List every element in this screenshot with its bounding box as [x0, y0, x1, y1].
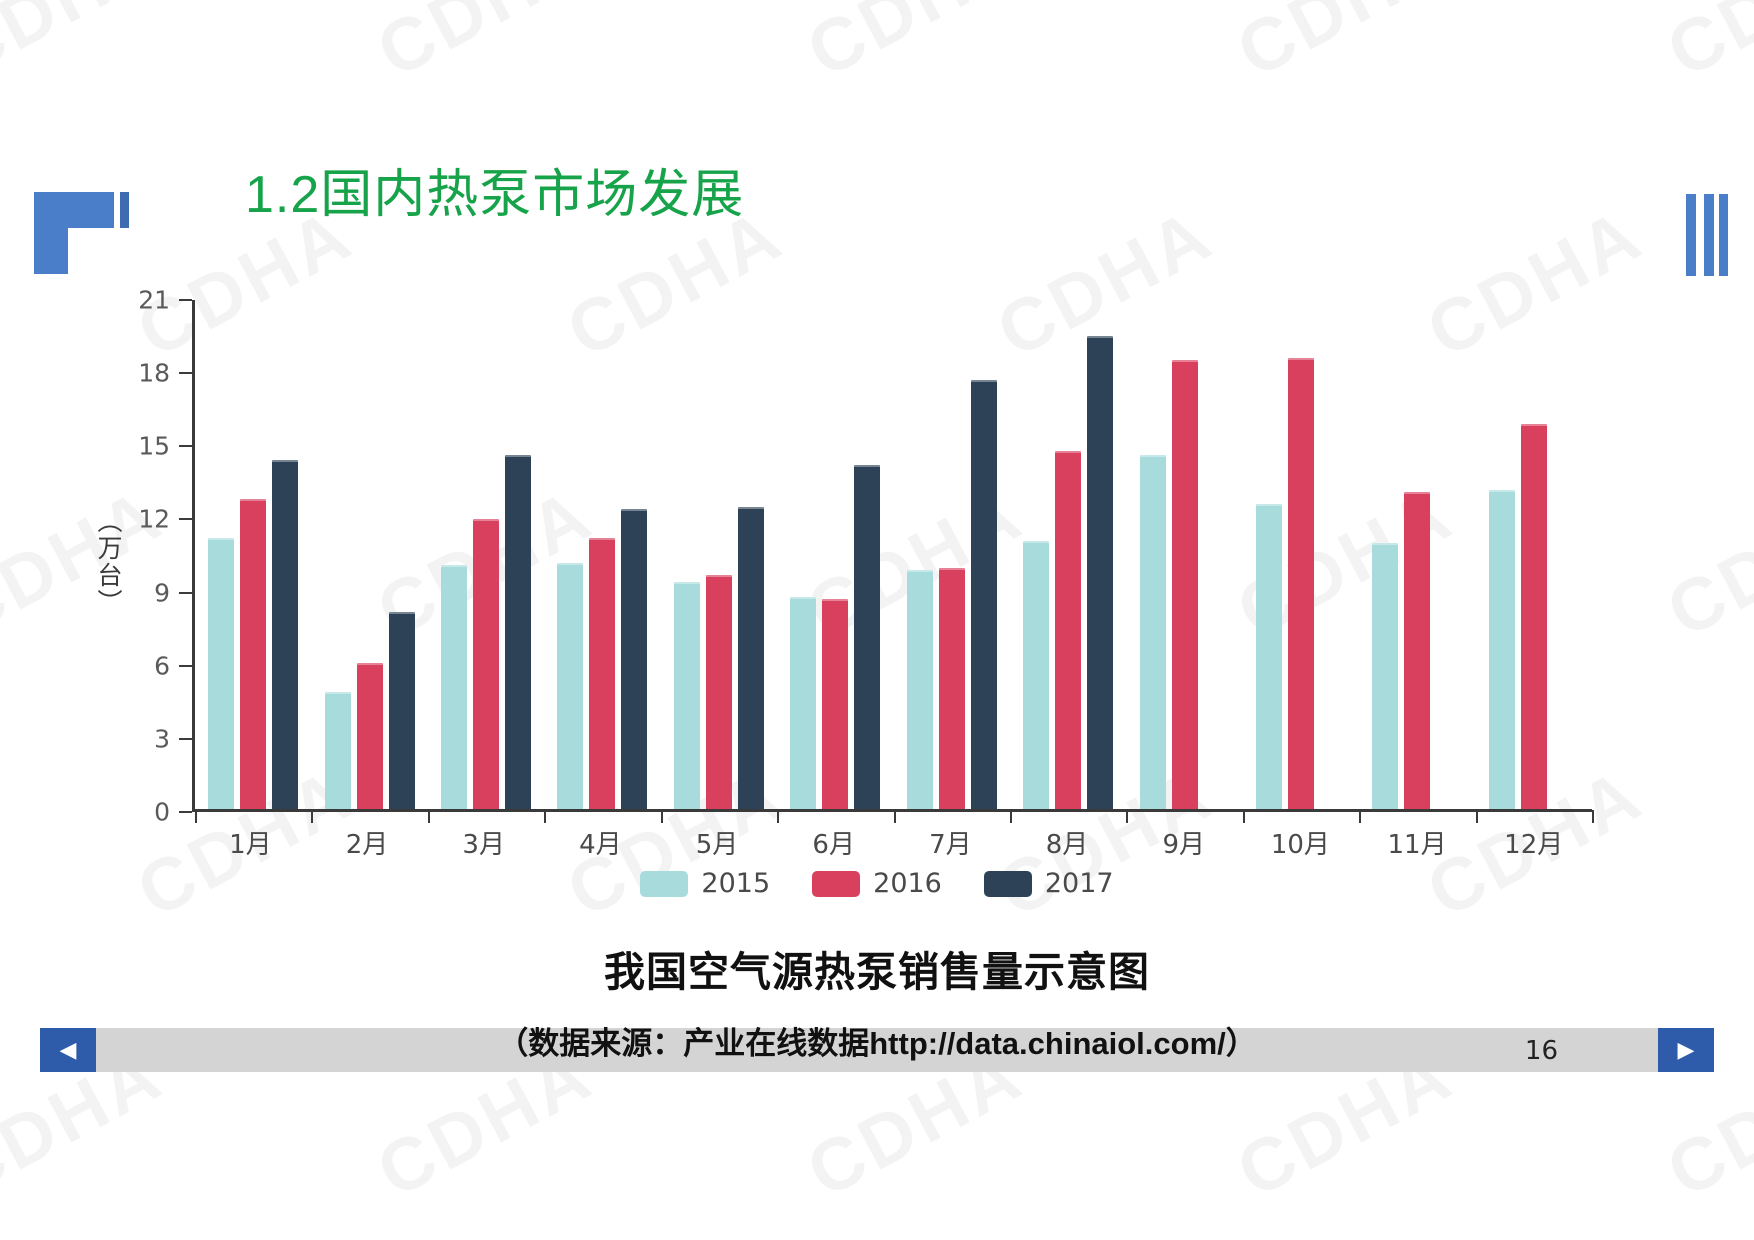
bar-2017-6月[interactable] — [854, 465, 880, 809]
x-tick-label: 11月 — [1359, 824, 1476, 861]
x-tick-mark — [661, 810, 663, 823]
bar-2016-2月[interactable] — [357, 663, 383, 809]
bar-group — [894, 300, 1010, 809]
y-tick-label: 6 — [120, 651, 170, 680]
bar-groups — [195, 300, 1592, 809]
bar-2017-3月[interactable] — [505, 455, 531, 809]
y-tick-mark — [179, 445, 192, 447]
x-tick-mark — [777, 810, 779, 823]
bar-group — [1126, 300, 1242, 809]
bar-2016-1月[interactable] — [240, 499, 266, 809]
watermark-text: CDHA — [363, 0, 606, 94]
bar-group — [1010, 300, 1126, 809]
bar-2016-8月[interactable] — [1055, 451, 1081, 809]
bar-2015-6月[interactable] — [790, 597, 816, 809]
plot-area — [192, 300, 1592, 812]
y-axis-ticks: 036912151821 — [126, 300, 192, 812]
bar-2015-10月[interactable] — [1256, 504, 1282, 809]
x-tick-mark — [1476, 810, 1478, 823]
bar-group — [311, 300, 427, 809]
y-tick-mark — [179, 299, 192, 301]
legend-item-2015[interactable]: 2015 — [640, 868, 770, 899]
y-tick-label: 9 — [120, 578, 170, 607]
bar-group — [1359, 300, 1475, 809]
bar-2015-8月[interactable] — [1023, 541, 1049, 809]
x-tick-label: 3月 — [425, 824, 542, 861]
decoration-bars-right — [1686, 194, 1728, 276]
y-tick-mark — [179, 372, 192, 374]
legend-swatch-2017 — [984, 871, 1032, 897]
legend-label-2015: 2015 — [701, 868, 770, 899]
x-axis-labels: 1月2月3月4月5月6月7月8月9月10月11月12月 — [192, 824, 1592, 861]
x-tick-mark — [1126, 810, 1128, 823]
y-tick-label: 15 — [120, 432, 170, 461]
source-url-link[interactable]: http://data.chinaiol.com/ — [869, 1026, 1226, 1061]
x-tick-label: 10月 — [1242, 824, 1359, 861]
bar-2015-9月[interactable] — [1140, 455, 1166, 809]
x-tick-label: 5月 — [659, 824, 776, 861]
x-tick-label: 6月 — [775, 824, 892, 861]
x-tick-label: 2月 — [309, 824, 426, 861]
bar-group — [661, 300, 777, 809]
bar-2016-4月[interactable] — [589, 538, 615, 809]
x-tick-mark — [544, 810, 546, 823]
slide-canvas: CDHACDHACDHACDHACDHACDHACDHACDHACDHACDHA… — [0, 0, 1754, 1240]
legend-item-2016[interactable]: 2016 — [812, 868, 942, 899]
bar-2017-5月[interactable] — [738, 507, 764, 809]
y-tick-label: 12 — [120, 505, 170, 534]
watermark-text: CDHA — [1653, 471, 1754, 654]
bar-2015-7月[interactable] — [907, 570, 933, 809]
bar-2017-2月[interactable] — [389, 612, 415, 809]
x-tick-label: 4月 — [542, 824, 659, 861]
bar-2017-4月[interactable] — [621, 509, 647, 809]
bar-group — [1476, 300, 1592, 809]
bar-2016-10月[interactable] — [1288, 358, 1314, 809]
watermark-text: CDHA — [1223, 0, 1466, 94]
source-suffix: ） — [1226, 1026, 1257, 1061]
bar-2015-1月[interactable] — [208, 538, 234, 809]
bar-2017-8月[interactable] — [1087, 336, 1113, 809]
y-tick-mark — [179, 811, 192, 813]
y-tick-mark — [179, 738, 192, 740]
legend-label-2017: 2017 — [1045, 868, 1114, 899]
chart-legend: 201520162017 — [0, 868, 1754, 899]
watermark-text: CDHA — [0, 0, 176, 94]
bar-2016-3月[interactable] — [473, 519, 499, 809]
bar-2015-12月[interactable] — [1489, 490, 1515, 809]
bar-group — [195, 300, 311, 809]
watermark-text: CDHA — [1653, 0, 1754, 94]
bar-chart: （万台） 036912151821 1月2月3月4月5月6月7月8月9月10月1… — [92, 300, 1662, 860]
bar-2016-6月[interactable] — [822, 599, 848, 809]
bar-2017-7月[interactable] — [971, 380, 997, 809]
x-tick-mark — [195, 810, 197, 823]
x-axis-tickmarks — [195, 809, 1592, 823]
y-tick-mark — [179, 518, 192, 520]
x-tick-mark — [428, 810, 430, 823]
x-tick-label: 1月 — [192, 824, 309, 861]
watermark-text: CDHA — [793, 0, 1036, 94]
page-number: 16 — [1525, 1036, 1558, 1066]
bar-2015-4月[interactable] — [557, 563, 583, 809]
y-tick-label: 21 — [120, 286, 170, 315]
bar-2015-5月[interactable] — [674, 582, 700, 809]
bar-group — [428, 300, 544, 809]
bar-2016-7月[interactable] — [939, 568, 965, 809]
bar-2016-12月[interactable] — [1521, 424, 1547, 809]
x-tick-mark — [894, 810, 896, 823]
slide-title: 1.2国内热泵市场发展 — [245, 152, 744, 227]
x-tick-label: 7月 — [892, 824, 1009, 861]
bar-2017-1月[interactable] — [272, 460, 298, 809]
bar-group — [777, 300, 893, 809]
bar-2016-5月[interactable] — [706, 575, 732, 809]
x-tick-label: 12月 — [1475, 824, 1592, 861]
x-tick-mark — [1010, 810, 1012, 823]
x-tick-label: 8月 — [1009, 824, 1126, 861]
previous-slide-button[interactable]: ◀ — [40, 1028, 96, 1072]
x-tick-mark — [1592, 810, 1594, 823]
legend-swatch-2015 — [640, 871, 688, 897]
x-tick-mark — [1359, 810, 1361, 823]
bar-group — [1243, 300, 1359, 809]
x-tick-label: 9月 — [1125, 824, 1242, 861]
bar-2015-2月[interactable] — [325, 692, 351, 809]
bar-2015-3月[interactable] — [441, 565, 467, 809]
legend-swatch-2016 — [812, 871, 860, 897]
y-tick-label: 0 — [120, 798, 170, 827]
decoration-corner-left — [34, 192, 114, 274]
next-slide-button[interactable]: ▶ — [1658, 1028, 1714, 1072]
y-tick-label: 18 — [120, 359, 170, 388]
x-tick-mark — [1243, 810, 1245, 823]
y-tick-label: 3 — [120, 724, 170, 753]
x-tick-mark — [311, 810, 313, 823]
source-prefix: （数据来源：产业在线数据 — [497, 1026, 869, 1061]
y-tick-mark — [179, 665, 192, 667]
chart-caption: 我国空气源热泵销售量示意图 — [0, 938, 1754, 998]
bar-2016-9月[interactable] — [1172, 360, 1198, 809]
legend-label-2016: 2016 — [873, 868, 942, 899]
legend-item-2017[interactable]: 2017 — [984, 868, 1114, 899]
data-source-note: （数据来源：产业在线数据http://data.chinaiol.com/） — [0, 1018, 1754, 1063]
bar-2016-11月[interactable] — [1404, 492, 1430, 809]
y-tick-mark — [179, 592, 192, 594]
bar-2015-11月[interactable] — [1372, 543, 1398, 809]
bar-group — [544, 300, 660, 809]
